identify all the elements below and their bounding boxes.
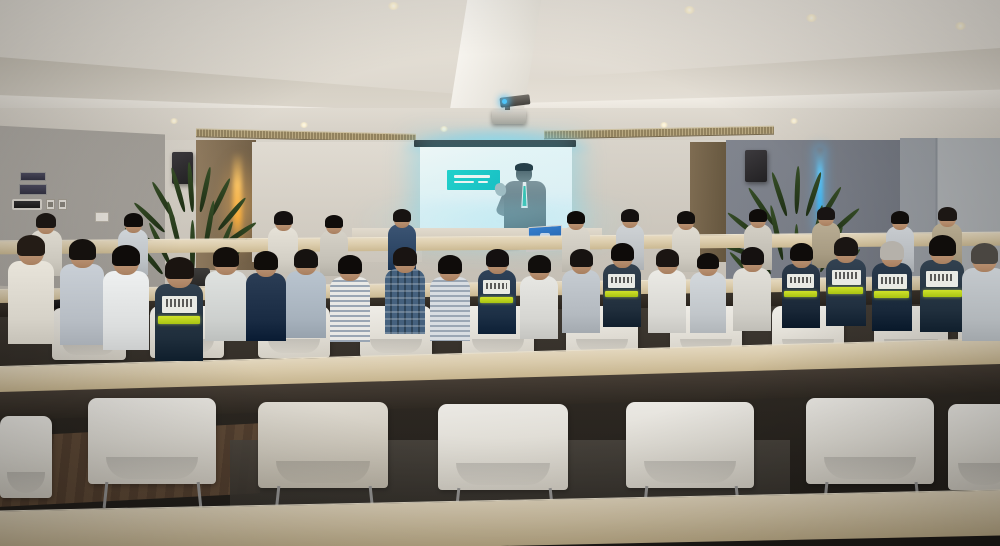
audience-member: [826, 238, 866, 330]
light-switch-1[interactable]: [46, 199, 55, 210]
attendee-hair: [891, 211, 909, 224]
attendee-torso: [385, 269, 425, 334]
audience-member: [385, 248, 425, 338]
attendee-hair: [929, 235, 956, 256]
attendee-torso: [962, 268, 1000, 341]
attendee-hair: [294, 249, 318, 268]
wall-plaque-lower: [19, 184, 47, 195]
audience-member: [520, 256, 558, 343]
downlight-icon: [684, 6, 695, 14]
uniform-printed-text: [166, 299, 192, 307]
attendee-torso: [562, 270, 600, 333]
attendee-hair: [338, 255, 362, 274]
attendee-hair: [17, 235, 45, 256]
attendee-hair: [880, 241, 904, 260]
audience-member: [103, 246, 149, 354]
attendee-hair: [393, 209, 411, 222]
attendee-hair: [621, 209, 639, 222]
slide-title-banner: [447, 170, 500, 190]
audience-member: [60, 240, 104, 349]
audience-member: [562, 250, 600, 337]
audience-member: [286, 250, 326, 342]
attendee-hair: [393, 247, 417, 266]
attendee-torso: [330, 277, 370, 342]
wall-plaque-upper: [20, 172, 46, 181]
downlight-icon: [170, 118, 178, 124]
slide-speaker-hair: [515, 163, 533, 171]
slide-title-text: [454, 175, 490, 178]
attendee-torso: [648, 270, 686, 333]
reflective-stripe: [605, 291, 638, 297]
attendee-hair: [325, 215, 343, 228]
attendee-torso: [246, 273, 286, 341]
attendee-hair: [528, 255, 551, 273]
reflective-stripe: [923, 290, 962, 297]
reflective-stripe: [158, 316, 200, 324]
reflective-stripe: [784, 291, 817, 297]
audience-member: [690, 254, 726, 337]
audience-member: [205, 248, 247, 345]
attendee-hair: [112, 245, 140, 266]
attendee-hair: [438, 255, 462, 274]
attendee-hair: [165, 257, 194, 279]
attendee-hair: [834, 237, 858, 256]
attendee-hair: [567, 211, 585, 224]
attendee-torso: [8, 261, 54, 344]
reflective-stripe: [828, 287, 863, 294]
wall-outlet[interactable]: [95, 212, 109, 222]
attendee-hair: [213, 247, 239, 267]
reflective-stripe: [874, 291, 909, 298]
attendee-hair: [697, 253, 719, 269]
attendee-hair: [938, 207, 957, 221]
downlight-icon: [790, 118, 798, 124]
audience-member: [920, 236, 964, 336]
attendee-hair: [274, 211, 293, 225]
audience-member: [155, 258, 203, 365]
downlight-icon: [388, 2, 399, 10]
audience-member: [782, 244, 820, 332]
chair-front-0[interactable]: [0, 416, 52, 516]
chair-front-3[interactable]: [438, 404, 568, 514]
attendee-hair: [817, 207, 835, 220]
attendee-torso: [430, 277, 470, 341]
attendee-hair: [971, 243, 998, 264]
attendee-hair: [254, 251, 278, 270]
attendee-hair: [69, 239, 96, 260]
downlight-icon: [955, 22, 966, 30]
audience-member: [733, 248, 771, 335]
attendee-hair: [570, 249, 593, 267]
attendee-torso: [690, 272, 726, 333]
audience-member: [962, 244, 1000, 345]
uniform-printed-text: [790, 277, 811, 283]
projector-housing: [492, 110, 526, 124]
audience-member: [8, 236, 54, 348]
audience-member: [430, 256, 470, 345]
attendee-hair: [656, 249, 679, 267]
attendee-hair: [677, 211, 695, 224]
audience-member: [330, 256, 370, 346]
attendee-torso: [60, 264, 104, 345]
chair-front-1[interactable]: [88, 398, 216, 508]
attendee-hair: [749, 209, 767, 222]
uniform-printed-text: [486, 283, 507, 289]
audience-member: [603, 244, 641, 331]
attendee-torso: [520, 276, 558, 339]
uniform-printed-text: [835, 272, 857, 279]
wall-control-panel[interactable]: [12, 199, 42, 210]
audience-member: [478, 250, 516, 338]
attendee-torso: [103, 271, 149, 350]
uniform-printed-text: [611, 277, 632, 283]
audience-member: [648, 250, 686, 337]
attendee-torso: [733, 268, 771, 331]
uniform-printed-text: [930, 274, 954, 281]
chair-front-2[interactable]: [258, 402, 388, 512]
slide-subtitle-text-2: [478, 181, 488, 183]
uniform-printed-text: [881, 277, 903, 284]
attendee-hair: [486, 249, 509, 267]
screen-valance: [414, 140, 576, 147]
attendee-hair: [611, 243, 634, 261]
attendee-torso: [205, 271, 247, 341]
attendee-hair: [741, 247, 764, 265]
conference-room-photo: [0, 0, 1000, 546]
audience-member: [872, 242, 912, 335]
reflective-stripe: [480, 297, 513, 303]
attendee-hair: [790, 243, 813, 261]
projector-status-led: [502, 99, 507, 104]
slide-subtitle-text: [454, 181, 474, 183]
attendee-hair: [36, 213, 56, 228]
light-switch-2[interactable]: [58, 199, 67, 210]
attendee-hair: [124, 213, 143, 227]
attendee-torso: [286, 271, 326, 338]
audience-member: [246, 252, 286, 345]
downlight-icon: [806, 14, 817, 22]
downlight-icon: [300, 122, 308, 128]
